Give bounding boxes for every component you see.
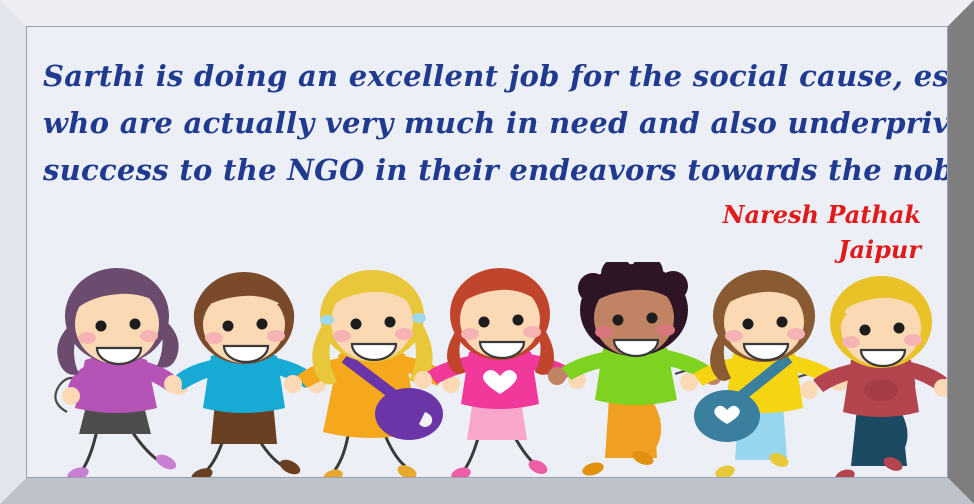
quote-line-3: success to the NGO in their endeavors to…	[43, 147, 929, 194]
testimonial-card-body: Sarthi is doing an excellent job for the…	[26, 26, 948, 478]
testimonial-card-frame: Sarthi is doing an excellent job for the…	[0, 0, 974, 504]
quote-line-2: who are actually very much in need and a…	[43, 100, 929, 147]
frame-bevel-top	[0, 0, 974, 26]
testimonial-quote: Sarthi is doing an excellent job for the…	[33, 53, 939, 194]
child-6	[680, 270, 848, 477]
testimonial-attribution: Naresh Pathak Jaipur	[421, 197, 921, 267]
frame-bevel-bottom	[0, 478, 974, 504]
child-7	[800, 276, 948, 477]
child-1	[57, 268, 188, 477]
attribution-name: Naresh Pathak	[421, 197, 921, 232]
frame-bevel-right	[948, 0, 974, 504]
quote-line-1: Sarthi is doing an excellent job for the…	[43, 53, 929, 100]
frame-bevel-left	[0, 0, 26, 504]
children-illustration	[27, 262, 948, 477]
child-5	[548, 262, 722, 477]
